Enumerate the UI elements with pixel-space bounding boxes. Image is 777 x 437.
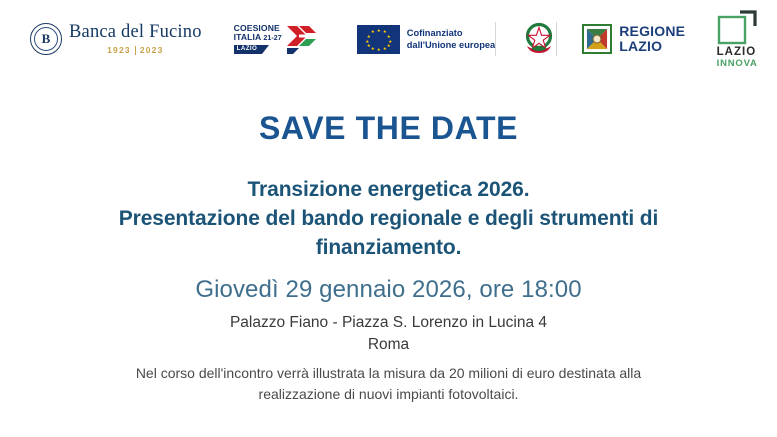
event-datetime: Giovedì 29 gennaio 2026, ore 18:00 [0,276,777,304]
eu-funding-line2: dall'Unione europea [407,39,495,51]
logo-divider-2 [556,22,557,56]
coesione-italia-wordmark: COESIONE ITALIA 21-27 LAZIO [234,24,282,54]
banca-del-fucino-anniversary: 1923 2023 [107,46,163,55]
save-the-date-headline: SAVE THE DATE [0,110,777,147]
coesione-chevron-icon [285,24,317,54]
logo-divider-1 [495,22,496,56]
banca-del-fucino-seal-icon [30,23,62,55]
event-venue: Palazzo Fiano - Piazza S. Lorenzo in Luc… [0,312,777,356]
coesione-region-tag: LAZIO [234,45,270,54]
lazio-innova-wordmark: LAZIO INNOVA [717,47,758,68]
regione-lazio-line1: REGIONE [619,24,685,39]
event-subtitle-line-2: Presentazione del bando regionale e degl… [0,204,777,233]
lazio-innova-square-icon [715,9,759,45]
anniversary-year-from: 1923 [107,46,131,55]
logo-banca-del-fucino: Banca del Fucino 1923 2023 [30,0,202,78]
anniversary-year-to: 2023 [140,46,164,55]
event-description-line-1: Nel corso dell'incontro verrà illustrata… [0,363,777,384]
logo-lazio-innova: LAZIO INNOVA [715,0,759,78]
repubblica-italiana-emblem-icon [522,21,556,57]
event-description-note: Nel corso dell'incontro verrà illustrata… [0,363,777,405]
lazio-innova-line2: INNOVA [717,59,758,69]
eu-funding-text: Cofinanziato dall'Unione europea [407,27,495,51]
coesione-line2-text: ITALIA [234,33,262,42]
coesione-line2: ITALIA 21-27 [234,33,282,42]
logo-repubblica-italiana [522,0,556,78]
logo-regione-lazio: REGIONE LAZIO [581,0,685,78]
banca-del-fucino-wordmark: Banca del Fucino 1923 2023 [69,23,202,55]
logo-coesione-italia: COESIONE ITALIA 21-27 LAZIO [234,0,317,78]
logo-european-union: ★ ★ ★ ★ ★ ★ ★ ★ ★ ★ ★ ★ Cofinanziato dal… [357,0,495,78]
event-subtitle-line-1: Transizione energetica 2026. [0,175,777,204]
banca-del-fucino-name: Banca del Fucino [69,23,202,42]
regione-lazio-emblem-icon [581,23,613,55]
anniversary-separator-icon [135,46,136,55]
event-subtitle: Transizione energetica 2026. Presentazio… [0,175,777,263]
eu-funding-line1: Cofinanziato [407,27,495,39]
flyer-page: Banca del Fucino 1923 2023 COESIONE ITAL… [0,0,777,437]
event-venue-address: Palazzo Fiano - Piazza S. Lorenzo in Luc… [0,312,777,334]
coesione-period: 21-27 [263,35,281,42]
event-subtitle-line-3: finanziamento. [0,233,777,262]
regione-lazio-line2: LAZIO [619,39,685,54]
event-venue-city: Roma [0,334,777,356]
regione-lazio-wordmark: REGIONE LAZIO [619,24,685,53]
eu-flag-icon: ★ ★ ★ ★ ★ ★ ★ ★ ★ ★ ★ ★ [357,25,400,54]
event-description-line-2: realizzazione di nuovi impianti fotovolt… [0,384,777,405]
partner-logo-bar: Banca del Fucino 1923 2023 COESIONE ITAL… [0,0,777,78]
